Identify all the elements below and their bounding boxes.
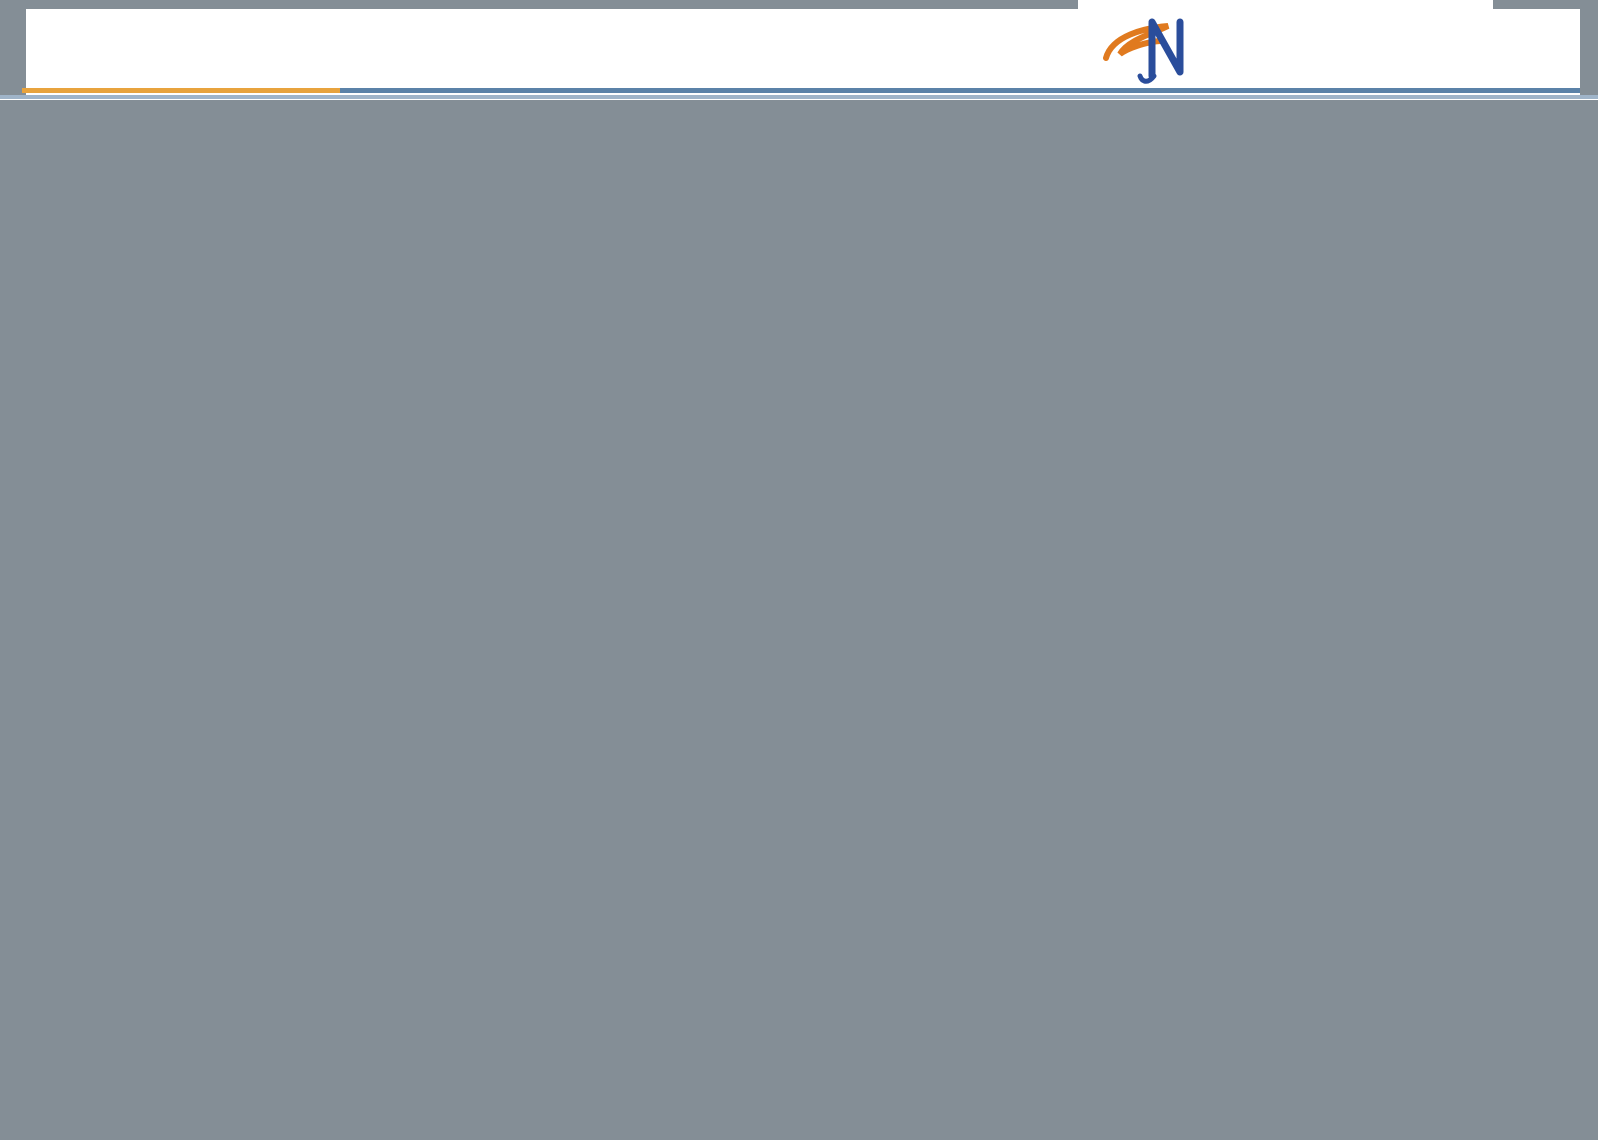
header-rule-orange <box>22 88 340 93</box>
phase-chevron-row <box>76 140 1496 244</box>
header-right-edge <box>1580 9 1598 95</box>
phase-process-band <box>0 100 1598 276</box>
header-rule-blue-secondary <box>0 95 1598 99</box>
department-rows <box>0 276 1598 1140</box>
page-header <box>0 0 1598 100</box>
surenet-logo-icon <box>1098 14 1258 84</box>
header-rule-blue <box>340 88 1580 93</box>
header-left-edge <box>0 9 26 95</box>
